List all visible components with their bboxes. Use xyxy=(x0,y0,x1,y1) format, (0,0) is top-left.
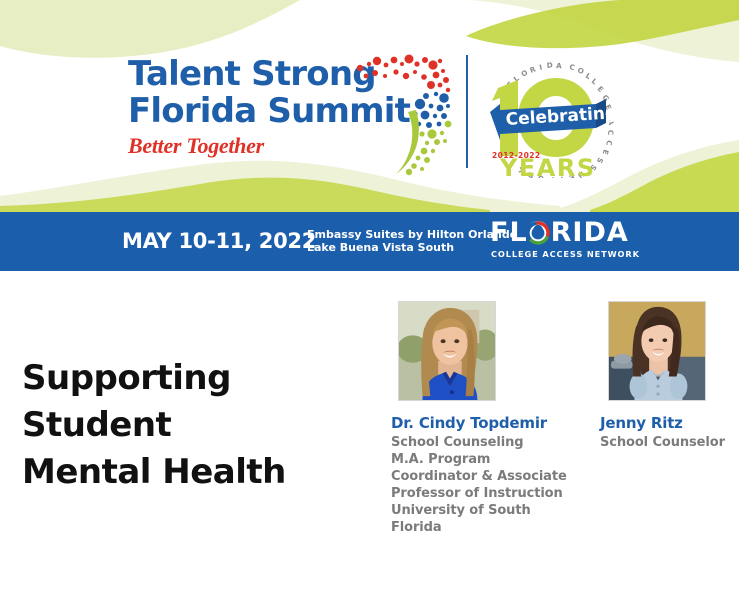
svg-text:A: A xyxy=(556,61,562,70)
speaker-role: School Counseling M.A. Program Coordinat… xyxy=(391,434,571,536)
event-dates: MAY 10-11, 2022 xyxy=(122,229,316,253)
speaker-role-line: School Counseling xyxy=(391,434,571,451)
presentation-slide: Talent Strong Florida Summit Better Toge… xyxy=(0,0,739,614)
fcan-ring-icon xyxy=(526,221,550,245)
fcan-subtitle: COLLEGE ACCESS NETWORK xyxy=(491,249,640,259)
speaker-role-line: M.A. Program xyxy=(391,451,571,468)
page-title: Supporting Student Mental Health xyxy=(22,355,362,496)
svg-text:C: C xyxy=(604,140,614,146)
svg-text:E: E xyxy=(596,84,606,94)
venue-line-1: Embassy Suites by Hilton Orlando xyxy=(307,228,517,241)
svg-text:L: L xyxy=(584,71,593,81)
avatar xyxy=(608,301,706,401)
fcan-wordmark: FLORIDA xyxy=(490,219,629,247)
slide-body: Supporting Student Mental Health xyxy=(0,271,739,614)
speaker-role-line: School Counselor xyxy=(600,434,735,451)
speaker-headshot-photo xyxy=(609,302,705,400)
speaker-name: Jenny Ritz xyxy=(600,414,735,432)
svg-text:YEARS: YEARS xyxy=(499,154,596,178)
svg-text:E: E xyxy=(601,148,611,155)
page-title-line-1: Supporting xyxy=(22,355,362,402)
svg-text:C: C xyxy=(569,62,576,72)
page-title-line-3: Mental Health xyxy=(22,449,362,496)
anniversary-logo: F L O R I D A C O L L E G E A C C E S S xyxy=(478,52,623,178)
event-venue: Embassy Suites by Hilton Orlando Lake Bu… xyxy=(307,228,517,254)
speaker-role-line: University of South xyxy=(391,502,571,519)
fcan-logo: FLORIDA COLLEGE ACCESS NETWORK xyxy=(490,219,615,264)
speaker-name: Dr. Cindy Topdemir xyxy=(391,414,571,432)
speaker-card: Jenny Ritz School Counselor xyxy=(600,301,735,451)
speaker-role-line: Florida xyxy=(391,519,571,536)
speaker-role-line: Professor of Instruction xyxy=(391,485,571,502)
header-band: Talent Strong Florida Summit Better Toge… xyxy=(0,0,739,212)
svg-text:L: L xyxy=(590,76,599,86)
svg-text:I: I xyxy=(538,63,543,72)
svg-text:D: D xyxy=(546,60,553,70)
svg-text:O: O xyxy=(576,65,585,76)
speaker-role: School Counselor xyxy=(600,434,735,451)
svg-text:S: S xyxy=(595,156,605,165)
svg-text:O: O xyxy=(520,68,530,79)
avatar xyxy=(398,301,496,401)
page-title-line-2: Student xyxy=(22,402,362,449)
speaker-role-line: Coordinator & Associate xyxy=(391,468,571,485)
svg-text:R: R xyxy=(528,64,537,75)
svg-text:C: C xyxy=(606,130,615,136)
venue-line-2: Lake Buena Vista South xyxy=(307,241,517,254)
florida-map-dots-icon xyxy=(352,52,464,177)
logo-divider xyxy=(466,55,468,168)
speaker-headshot-photo xyxy=(399,302,495,400)
speaker-card: Dr. Cindy Topdemir School Counseling M.A… xyxy=(391,301,571,536)
